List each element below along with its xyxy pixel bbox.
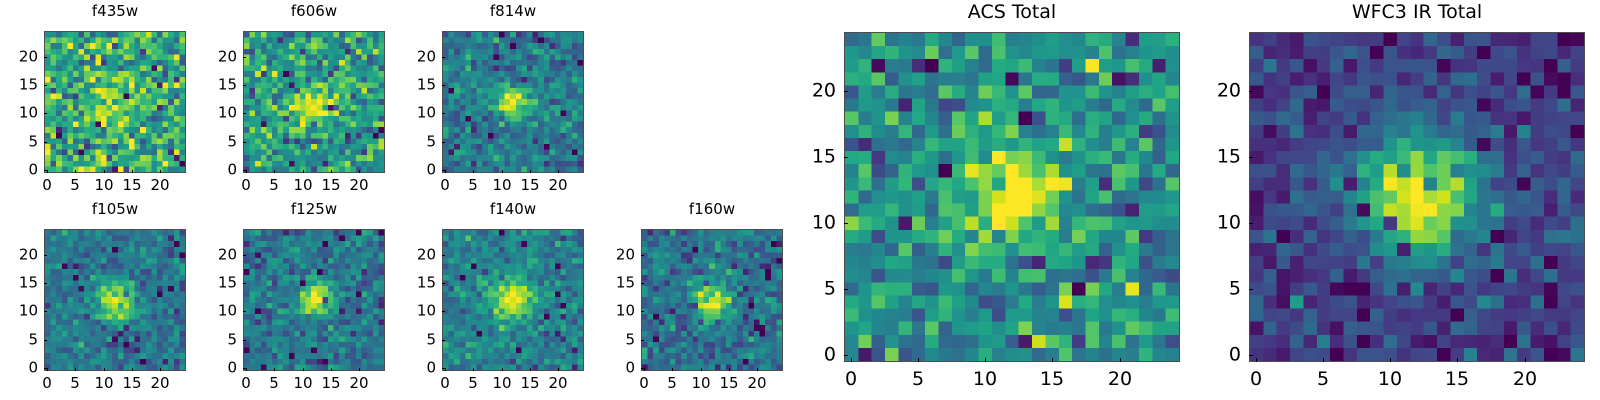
- ytick-mark-f125w-15: [243, 283, 246, 284]
- xtick-label-f160w-10: 10: [691, 376, 710, 391]
- axes-f140w: [442, 229, 584, 371]
- ytick-mark-f814w-10: [442, 113, 445, 114]
- ytick-label-f105w-0: 0: [0, 361, 38, 376]
- ytick-mark-acs-total-20: [844, 91, 848, 92]
- ytick-label-f814w-10: 10: [396, 106, 436, 121]
- ytick-label-acs-total-15: 15: [796, 148, 836, 167]
- axes-f606w: [243, 31, 385, 173]
- panel-title-wfc3-ir-total: WFC3 IR Total: [1249, 3, 1585, 22]
- xtick-label-f435w-20: 20: [150, 178, 169, 193]
- ytick-mark-f140w-5: [442, 340, 445, 341]
- panel-title-f105w: f105w: [44, 202, 186, 217]
- xtick-label-f125w-15: 15: [321, 376, 340, 391]
- xtick-mark-acs-total-15: [1052, 358, 1053, 362]
- xtick-label-f105w-10: 10: [94, 376, 113, 391]
- xtick-mark-f125w-15: [331, 368, 332, 371]
- ytick-label-acs-total-0: 0: [796, 346, 836, 365]
- ytick-mark-f606w-15: [243, 85, 246, 86]
- xtick-label-f160w-5: 5: [667, 376, 677, 391]
- xtick-mark-acs-total-5: [918, 358, 919, 362]
- ytick-mark-f435w-15: [44, 85, 47, 86]
- xtick-mark-f606w-0: [246, 170, 247, 173]
- ytick-label-wfc3-ir-total-0: 0: [1201, 346, 1241, 365]
- ytick-mark-acs-total-10: [844, 223, 848, 224]
- xtick-label-f140w-5: 5: [468, 376, 478, 391]
- ytick-mark-f140w-20: [442, 255, 445, 256]
- ytick-label-f814w-0: 0: [396, 163, 436, 178]
- ytick-mark-wfc3-ir-total-5: [1249, 289, 1253, 290]
- ytick-label-f435w-15: 15: [0, 78, 38, 93]
- ytick-mark-f435w-5: [44, 142, 47, 143]
- ytick-label-f160w-15: 15: [595, 276, 635, 291]
- xtick-label-acs-total-20: 20: [1108, 370, 1132, 389]
- ytick-mark-acs-total-5: [844, 289, 848, 290]
- xtick-mark-f160w-0: [644, 368, 645, 371]
- ytick-label-f125w-20: 20: [197, 248, 237, 263]
- axes-wfc3-ir-total: [1249, 32, 1585, 362]
- xtick-mark-wfc3-ir-total-20: [1525, 358, 1526, 362]
- xtick-mark-f814w-15: [530, 170, 531, 173]
- xtick-mark-acs-total-0: [851, 358, 852, 362]
- xtick-mark-f140w-5: [473, 368, 474, 371]
- ytick-label-f140w-5: 5: [396, 333, 436, 348]
- xtick-mark-f606w-15: [331, 170, 332, 173]
- ytick-label-f435w-20: 20: [0, 50, 38, 65]
- heatmap-image-f435w: [45, 32, 185, 172]
- xtick-mark-f105w-0: [47, 368, 48, 371]
- ytick-mark-f140w-0: [442, 368, 445, 369]
- ytick-mark-f606w-10: [243, 113, 246, 114]
- xtick-mark-f606w-20: [359, 170, 360, 173]
- ytick-label-f140w-15: 15: [396, 276, 436, 291]
- ytick-label-f606w-15: 15: [197, 78, 237, 93]
- xtick-mark-f125w-5: [274, 368, 275, 371]
- ytick-mark-wfc3-ir-total-20: [1249, 91, 1253, 92]
- panel-wfc3-ir-total: WFC3 IR Total0510152005101520: [0, 0, 1600, 400]
- ytick-mark-f814w-5: [442, 142, 445, 143]
- xtick-label-f125w-0: 0: [241, 376, 251, 391]
- ytick-label-acs-total-5: 5: [796, 280, 836, 299]
- xtick-mark-wfc3-ir-total-0: [1256, 358, 1257, 362]
- axes-f814w: [442, 31, 584, 173]
- heatmap-image-f814w: [443, 32, 583, 172]
- ytick-mark-f160w-10: [641, 311, 644, 312]
- ytick-label-f125w-5: 5: [197, 333, 237, 348]
- ytick-mark-f160w-20: [641, 255, 644, 256]
- xtick-label-f606w-0: 0: [241, 178, 251, 193]
- xtick-label-acs-total-15: 15: [1040, 370, 1064, 389]
- ytick-mark-f105w-10: [44, 311, 47, 312]
- ytick-mark-acs-total-0: [844, 355, 848, 356]
- xtick-label-f140w-10: 10: [492, 376, 511, 391]
- panel-title-f125w: f125w: [243, 202, 385, 217]
- ytick-label-wfc3-ir-total-20: 20: [1201, 82, 1241, 101]
- figure-canvas: f435w0510152005101520f606w05101520051015…: [0, 0, 1600, 400]
- panel-title-f160w: f160w: [641, 202, 783, 217]
- heatmap-image-f125w: [244, 230, 384, 370]
- xtick-mark-f140w-0: [445, 368, 446, 371]
- ytick-label-f435w-5: 5: [0, 135, 38, 150]
- ytick-mark-f814w-0: [442, 170, 445, 171]
- xtick-label-f160w-0: 0: [639, 376, 649, 391]
- ytick-mark-f125w-0: [243, 368, 246, 369]
- ytick-mark-f125w-5: [243, 340, 246, 341]
- ytick-mark-f606w-20: [243, 57, 246, 58]
- ytick-label-f160w-0: 0: [595, 361, 635, 376]
- xtick-label-f160w-20: 20: [747, 376, 766, 391]
- axes-f435w: [44, 31, 186, 173]
- ytick-label-f606w-20: 20: [197, 50, 237, 65]
- xtick-label-wfc3-ir-total-5: 5: [1317, 370, 1329, 389]
- ytick-label-f125w-0: 0: [197, 361, 237, 376]
- panel-acs-total: ACS Total0510152005101520: [0, 0, 1600, 400]
- heatmap-image-f160w: [642, 230, 782, 370]
- ytick-mark-f125w-20: [243, 255, 246, 256]
- ytick-mark-f160w-0: [641, 368, 644, 369]
- xtick-mark-f435w-5: [75, 170, 76, 173]
- ytick-mark-f814w-15: [442, 85, 445, 86]
- ytick-label-f435w-0: 0: [0, 163, 38, 178]
- ytick-label-wfc3-ir-total-15: 15: [1201, 148, 1241, 167]
- xtick-mark-f606w-10: [303, 170, 304, 173]
- panel-f606w: f606w0510152005101520: [0, 0, 1600, 400]
- xtick-label-f140w-15: 15: [520, 376, 539, 391]
- panel-title-f606w: f606w: [243, 4, 385, 19]
- xtick-label-f160w-15: 15: [719, 376, 738, 391]
- ytick-label-f160w-20: 20: [595, 248, 635, 263]
- xtick-label-f606w-15: 15: [321, 178, 340, 193]
- ytick-label-f140w-0: 0: [396, 361, 436, 376]
- xtick-mark-f435w-20: [160, 170, 161, 173]
- ytick-label-f814w-15: 15: [396, 78, 436, 93]
- xtick-mark-wfc3-ir-total-10: [1390, 358, 1391, 362]
- xtick-label-wfc3-ir-total-10: 10: [1378, 370, 1402, 389]
- ytick-label-f105w-15: 15: [0, 276, 38, 291]
- panel-title-f140w: f140w: [442, 202, 584, 217]
- xtick-mark-f435w-15: [132, 170, 133, 173]
- ytick-label-f606w-5: 5: [197, 135, 237, 150]
- ytick-label-f435w-10: 10: [0, 106, 38, 121]
- ytick-mark-f435w-10: [44, 113, 47, 114]
- axes-f105w: [44, 229, 186, 371]
- xtick-mark-acs-total-20: [1120, 358, 1121, 362]
- xtick-label-f125w-20: 20: [349, 376, 368, 391]
- xtick-label-f435w-10: 10: [94, 178, 113, 193]
- ytick-mark-wfc3-ir-total-15: [1249, 157, 1253, 158]
- xtick-label-f105w-15: 15: [122, 376, 141, 391]
- xtick-mark-f125w-0: [246, 368, 247, 371]
- ytick-mark-f160w-15: [641, 283, 644, 284]
- ytick-mark-f105w-0: [44, 368, 47, 369]
- xtick-label-f435w-0: 0: [42, 178, 52, 193]
- ytick-label-f140w-10: 10: [396, 304, 436, 319]
- ytick-mark-f160w-5: [641, 340, 644, 341]
- ytick-label-f105w-10: 10: [0, 304, 38, 319]
- ytick-mark-f140w-15: [442, 283, 445, 284]
- panel-f140w: f140w0510152005101520: [0, 0, 1600, 400]
- xtick-mark-f814w-20: [558, 170, 559, 173]
- xtick-label-wfc3-ir-total-20: 20: [1513, 370, 1537, 389]
- ytick-mark-f814w-20: [442, 57, 445, 58]
- xtick-label-f814w-5: 5: [468, 178, 478, 193]
- xtick-mark-f105w-10: [104, 368, 105, 371]
- xtick-mark-f435w-0: [47, 170, 48, 173]
- ytick-label-wfc3-ir-total-10: 10: [1201, 214, 1241, 233]
- ytick-label-f105w-5: 5: [0, 333, 38, 348]
- ytick-label-f105w-20: 20: [0, 248, 38, 263]
- panel-title-acs-total: ACS Total: [844, 3, 1180, 22]
- xtick-label-f606w-10: 10: [293, 178, 312, 193]
- xtick-label-f125w-5: 5: [269, 376, 279, 391]
- xtick-mark-f125w-10: [303, 368, 304, 371]
- ytick-mark-f105w-15: [44, 283, 47, 284]
- xtick-label-f435w-5: 5: [70, 178, 80, 193]
- panel-f105w: f105w0510152005101520: [0, 0, 1600, 400]
- xtick-mark-f105w-15: [132, 368, 133, 371]
- ytick-mark-f125w-10: [243, 311, 246, 312]
- axes-f125w: [243, 229, 385, 371]
- ytick-label-f814w-5: 5: [396, 135, 436, 150]
- ytick-mark-f140w-10: [442, 311, 445, 312]
- ytick-mark-f606w-5: [243, 142, 246, 143]
- xtick-mark-f435w-10: [104, 170, 105, 173]
- ytick-mark-f606w-0: [243, 170, 246, 171]
- ytick-label-f160w-10: 10: [595, 304, 635, 319]
- ytick-mark-f435w-20: [44, 57, 47, 58]
- xtick-mark-f814w-5: [473, 170, 474, 173]
- xtick-label-f105w-20: 20: [150, 376, 169, 391]
- heatmap-image-acs-total: [845, 33, 1179, 361]
- xtick-label-f814w-20: 20: [548, 178, 567, 193]
- xtick-label-wfc3-ir-total-0: 0: [1250, 370, 1262, 389]
- xtick-label-acs-total-5: 5: [912, 370, 924, 389]
- panel-f125w: f125w0510152005101520: [0, 0, 1600, 400]
- panel-f435w: f435w0510152005101520: [0, 0, 1600, 400]
- ytick-label-f814w-20: 20: [396, 50, 436, 65]
- xtick-label-f814w-10: 10: [492, 178, 511, 193]
- xtick-mark-acs-total-10: [985, 358, 986, 362]
- xtick-label-f814w-15: 15: [520, 178, 539, 193]
- panel-f814w: f814w0510152005101520: [0, 0, 1600, 400]
- heatmap-image-f606w: [244, 32, 384, 172]
- heatmap-image-f105w: [45, 230, 185, 370]
- xtick-mark-wfc3-ir-total-15: [1457, 358, 1458, 362]
- ytick-label-acs-total-10: 10: [796, 214, 836, 233]
- xtick-label-f105w-5: 5: [70, 376, 80, 391]
- panel-title-f814w: f814w: [442, 4, 584, 19]
- xtick-mark-f814w-10: [502, 170, 503, 173]
- xtick-mark-f140w-20: [558, 368, 559, 371]
- ytick-label-f606w-10: 10: [197, 106, 237, 121]
- ytick-mark-f105w-20: [44, 255, 47, 256]
- xtick-mark-f125w-20: [359, 368, 360, 371]
- xtick-label-f105w-0: 0: [42, 376, 52, 391]
- ytick-mark-wfc3-ir-total-0: [1249, 355, 1253, 356]
- xtick-mark-f140w-15: [530, 368, 531, 371]
- ytick-label-f160w-5: 5: [595, 333, 635, 348]
- panel-f160w: f160w0510152005101520: [0, 0, 1600, 400]
- xtick-mark-f606w-5: [274, 170, 275, 173]
- ytick-label-f606w-0: 0: [197, 163, 237, 178]
- ytick-label-wfc3-ir-total-5: 5: [1201, 280, 1241, 299]
- xtick-label-f140w-20: 20: [548, 376, 567, 391]
- panel-title-f435w: f435w: [44, 4, 186, 19]
- xtick-label-f814w-0: 0: [440, 178, 450, 193]
- xtick-mark-f140w-10: [502, 368, 503, 371]
- ytick-label-f125w-10: 10: [197, 304, 237, 319]
- xtick-label-f435w-15: 15: [122, 178, 141, 193]
- xtick-label-f125w-10: 10: [293, 376, 312, 391]
- xtick-label-acs-total-0: 0: [845, 370, 857, 389]
- heatmap-image-wfc3-ir-total: [1250, 33, 1584, 361]
- xtick-label-f606w-5: 5: [269, 178, 279, 193]
- ytick-mark-acs-total-15: [844, 157, 848, 158]
- ytick-mark-f105w-5: [44, 340, 47, 341]
- xtick-mark-f105w-5: [75, 368, 76, 371]
- xtick-mark-f160w-15: [729, 368, 730, 371]
- xtick-mark-wfc3-ir-total-5: [1323, 358, 1324, 362]
- ytick-mark-wfc3-ir-total-10: [1249, 223, 1253, 224]
- xtick-mark-f160w-10: [701, 368, 702, 371]
- xtick-label-f140w-0: 0: [440, 376, 450, 391]
- ytick-label-f125w-15: 15: [197, 276, 237, 291]
- xtick-mark-f160w-5: [672, 368, 673, 371]
- axes-acs-total: [844, 32, 1180, 362]
- xtick-mark-f160w-20: [757, 368, 758, 371]
- xtick-mark-f814w-0: [445, 170, 446, 173]
- axes-f160w: [641, 229, 783, 371]
- xtick-mark-f105w-20: [160, 368, 161, 371]
- ytick-label-f140w-20: 20: [396, 248, 436, 263]
- xtick-label-wfc3-ir-total-15: 15: [1445, 370, 1469, 389]
- xtick-label-f606w-20: 20: [349, 178, 368, 193]
- ytick-label-acs-total-20: 20: [796, 82, 836, 101]
- xtick-label-acs-total-10: 10: [973, 370, 997, 389]
- ytick-mark-f435w-0: [44, 170, 47, 171]
- heatmap-image-f140w: [443, 230, 583, 370]
